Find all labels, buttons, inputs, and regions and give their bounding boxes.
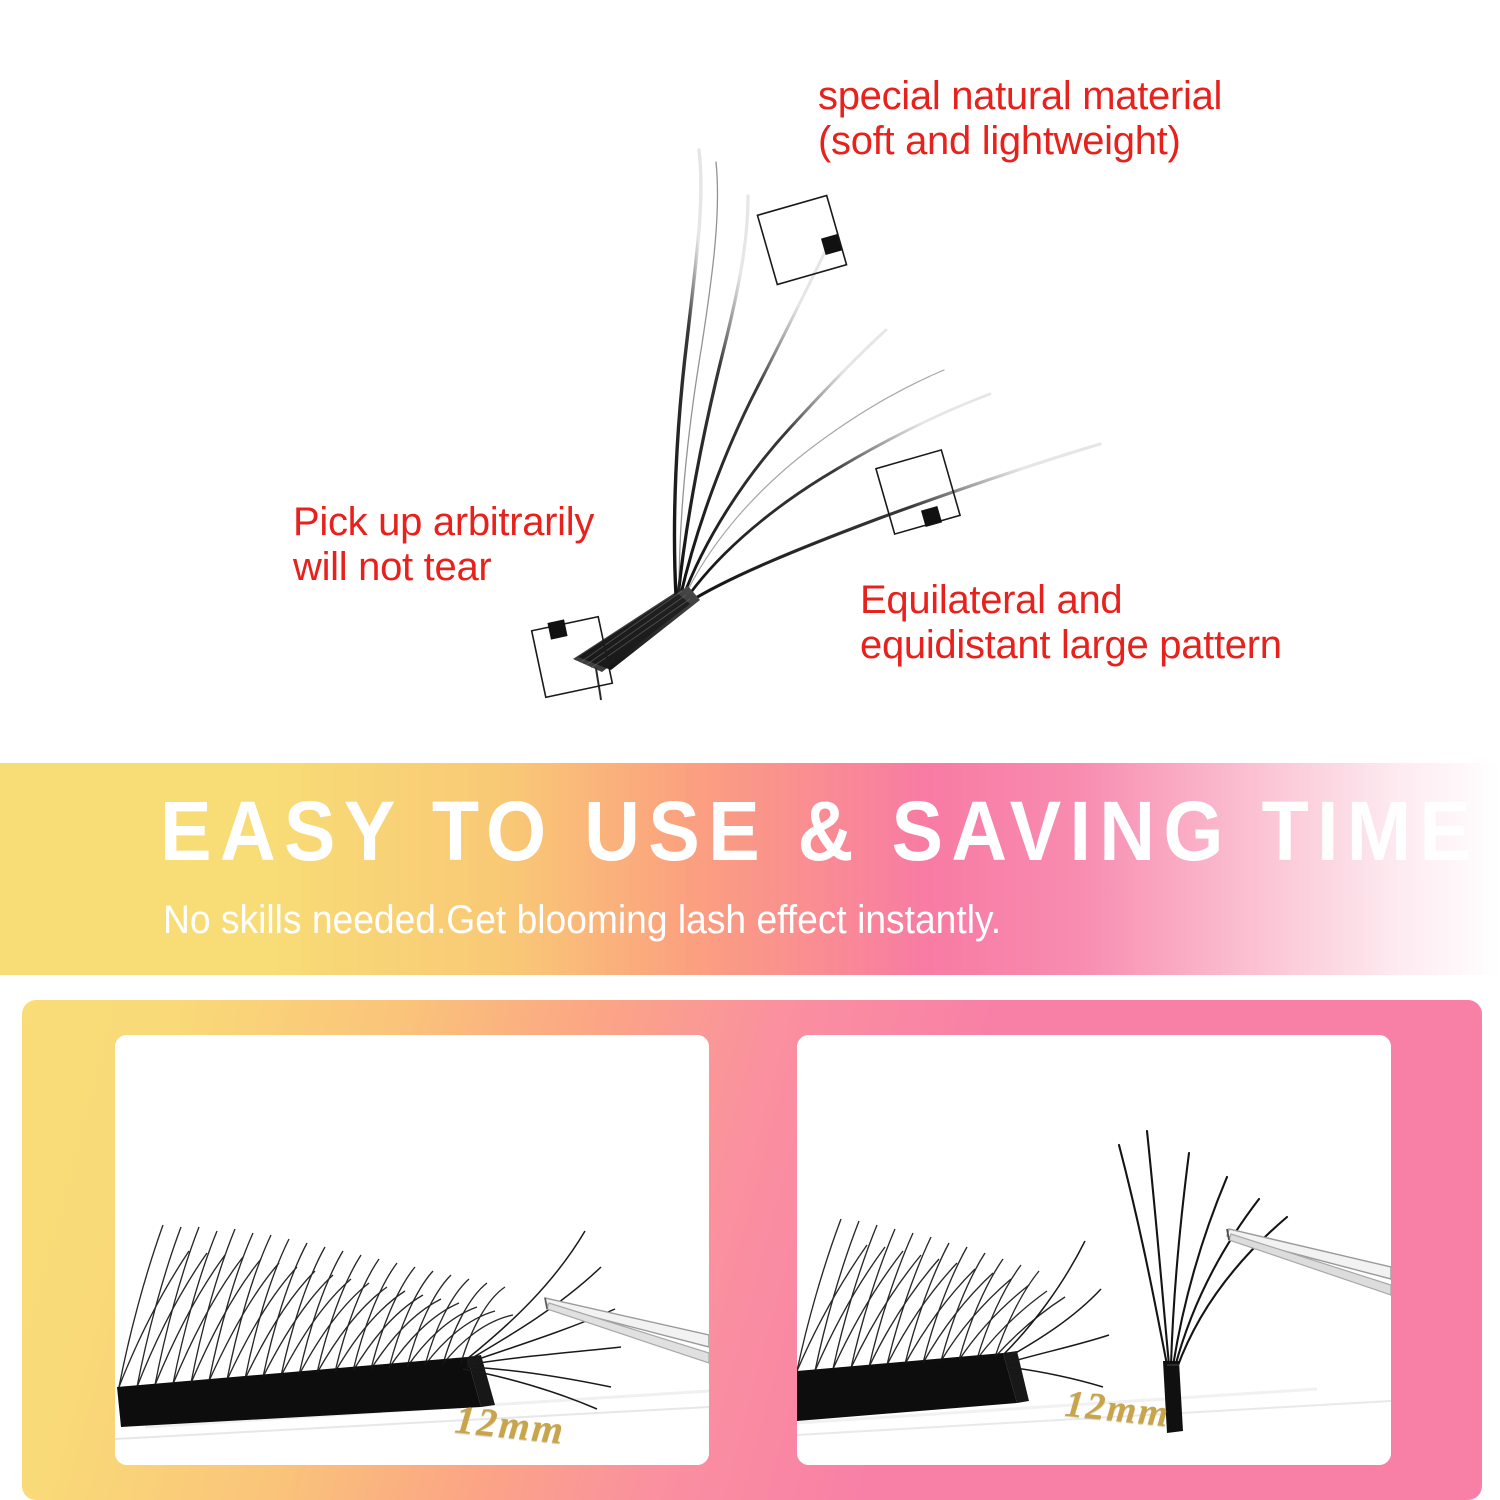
lash-strand-5 [684, 394, 990, 602]
product-photos-section: 12mm [0, 975, 1500, 1500]
lash-tray-closeup-image [115, 1035, 709, 1465]
callout-label-pattern: Equilateral and equidistant large patter… [860, 578, 1282, 668]
callout-label-pickup: Pick up arbitrarily will not tear [293, 500, 594, 590]
banner-subheadline: No skills needed.Get blooming lash effec… [163, 900, 1001, 940]
easy-to-use-banner: EASY TO USE & SAVING TIME No skills need… [0, 763, 1500, 975]
lash-fan-base [573, 586, 700, 700]
photo-card-lash-tray-closeup: 12mm [115, 1035, 709, 1465]
lash-fan-diagram-section: special natural material (soft and light… [0, 0, 1500, 763]
lash-strand-2 [678, 196, 748, 597]
gradient-photo-frame: 12mm [22, 1000, 1482, 1500]
callout-marker-pattern [876, 450, 960, 534]
lash-strand-4 [682, 330, 886, 600]
lash-strand-group [674, 150, 1100, 604]
lash-strand-3 [680, 250, 826, 598]
banner-headline: EASY TO USE & SAVING TIME [160, 789, 1479, 873]
photo-card-lash-fan-pickup: 12mm [797, 1035, 1391, 1465]
callout-marker-material [757, 195, 846, 284]
callout-label-material: special natural material (soft and light… [818, 74, 1222, 164]
